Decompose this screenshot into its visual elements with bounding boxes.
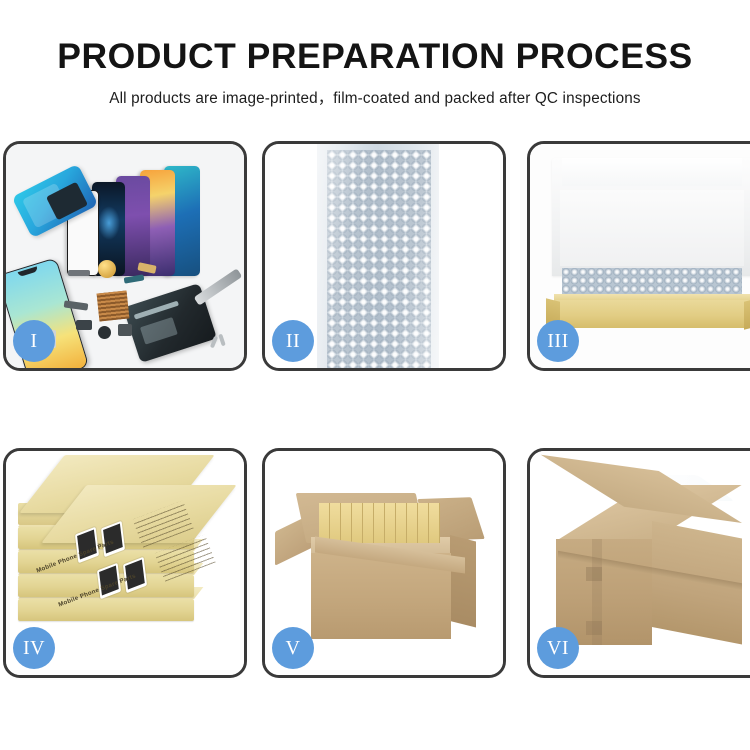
foam-insert: [560, 190, 744, 266]
process-step-1[interactable]: I: [3, 141, 247, 371]
spare-part-icon: [98, 326, 111, 339]
step-badge-2: II: [272, 320, 314, 362]
spare-part-icon: [76, 320, 92, 330]
process-step-6[interactable]: VI: [527, 448, 750, 678]
page-subtitle: All products are image-printed，film-coat…: [0, 75, 750, 108]
step-badge-5: V: [272, 627, 314, 669]
carton-tab-icon: [586, 567, 602, 581]
process-step-grid: I II III: [3, 141, 747, 678]
carton-side-panel: [450, 535, 476, 627]
vibration-motor-icon: [98, 260, 116, 278]
spare-part-icon: [68, 270, 90, 276]
step-badge-4: IV: [13, 627, 55, 669]
process-row-1: I II III: [3, 141, 747, 371]
process-step-2[interactable]: II: [262, 141, 506, 371]
connector-grid-icon: [97, 291, 130, 322]
plastic-sheen: [317, 144, 439, 368]
process-step-5[interactable]: V: [262, 448, 506, 678]
step-badge-3: III: [537, 320, 579, 362]
carton-tab-icon: [586, 621, 602, 635]
page-header: PRODUCT PREPARATION PROCESS All products…: [0, 0, 750, 108]
step-badge-1: I: [13, 320, 55, 362]
process-step-3[interactable]: III: [527, 141, 750, 371]
spare-part-icon: [118, 324, 132, 336]
process-row-2: Mobile Phone Spare Parts Mobile Phone Sp…: [3, 448, 747, 678]
phone-screen-fan: [58, 158, 244, 276]
page-title: PRODUCT PREPARATION PROCESS: [0, 0, 750, 75]
yellow-box-front: [554, 300, 750, 328]
retail-box-layer: [18, 599, 194, 621]
process-step-4[interactable]: Mobile Phone Spare Parts Mobile Phone Sp…: [3, 448, 247, 678]
step-badge-6: VI: [537, 627, 579, 669]
